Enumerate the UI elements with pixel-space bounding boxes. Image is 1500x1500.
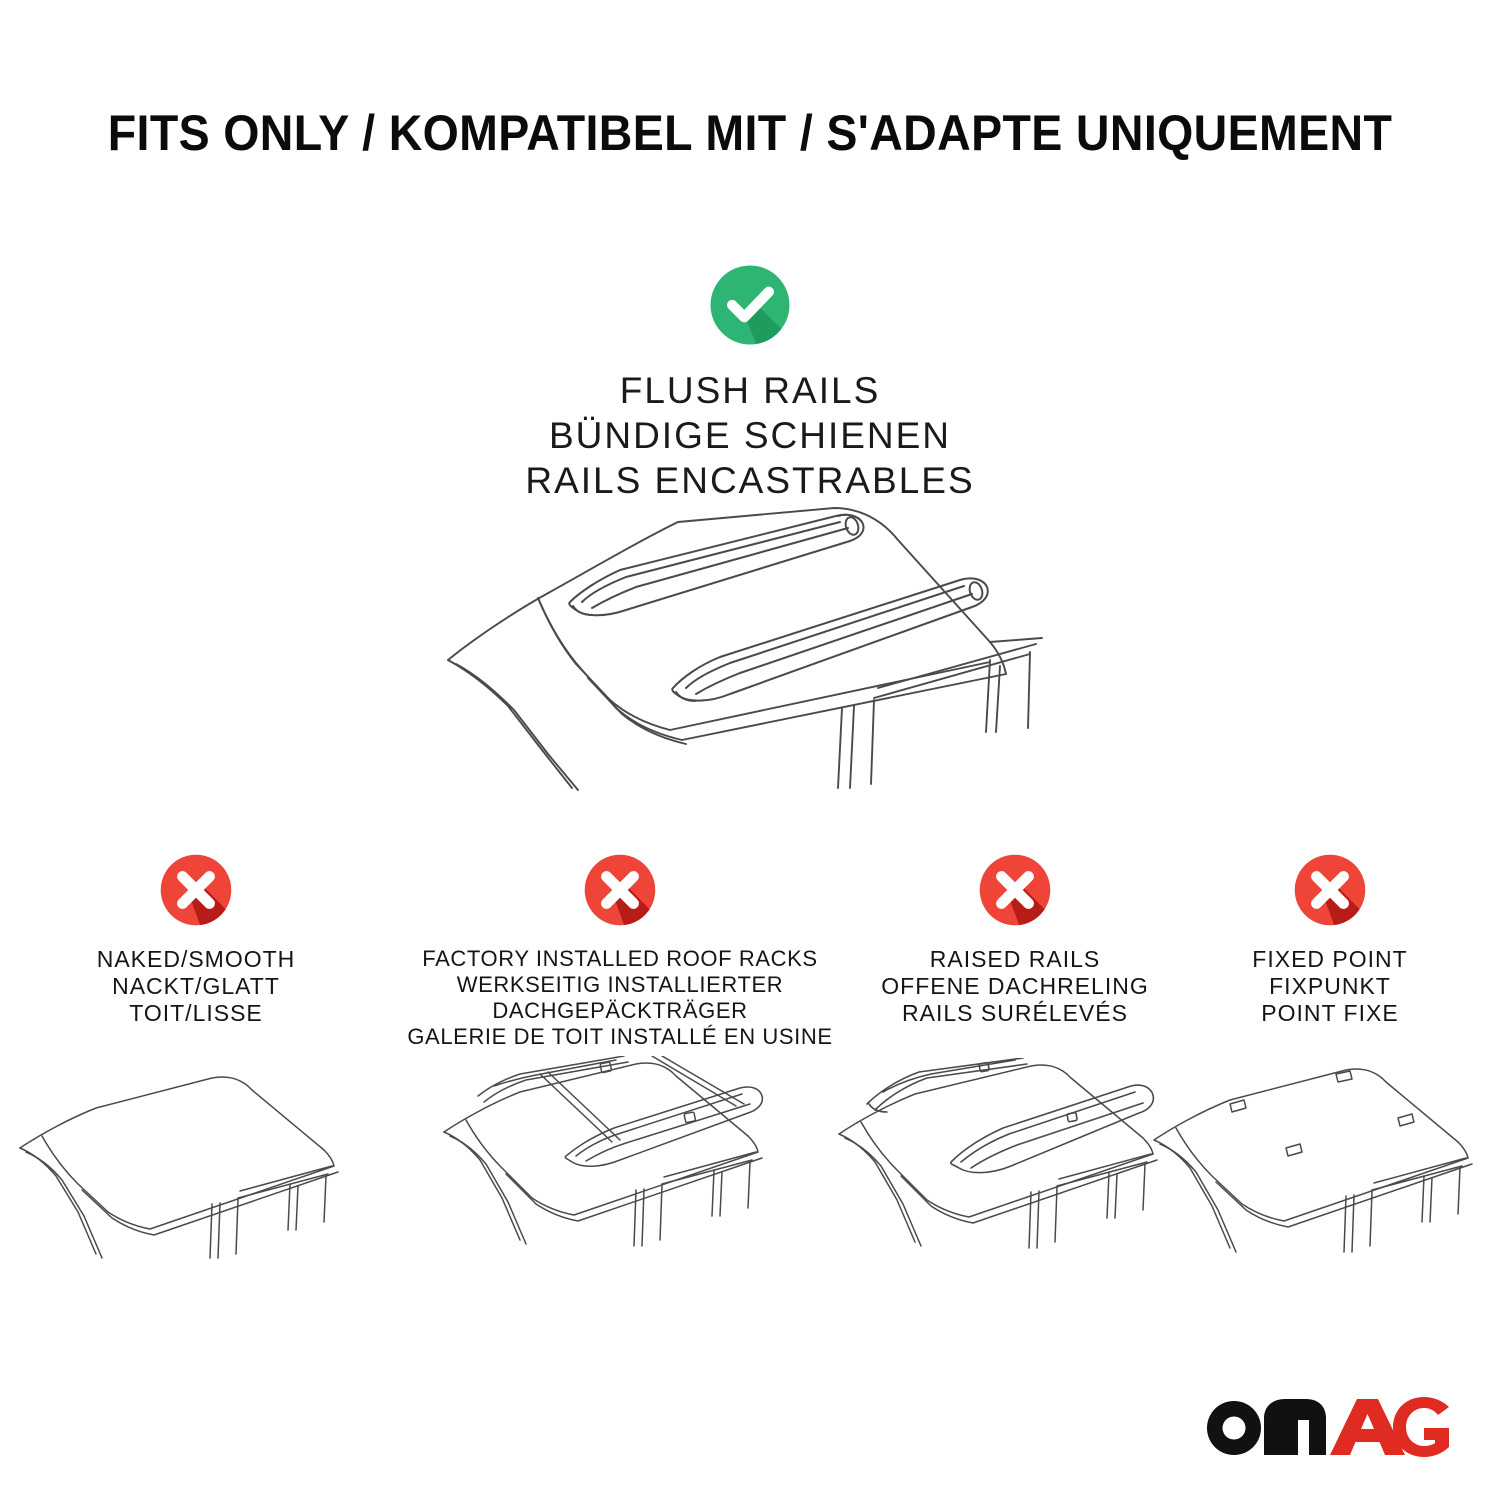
car-roof-naked-smooth-illustration [16,1058,376,1293]
label-group: RAISED RAILS OFFENE DACHRELING RAILS SUR… [845,946,1185,1027]
label-group: FACTORY INSTALLED ROOF RACKS WERKSEITIG … [390,946,850,1050]
label-de-2: DACHGEPÄCKTRÄGER [390,998,850,1024]
label-en: FIXED POINT [1165,946,1495,973]
incompatible-item-factory-roof-racks: FACTORY INSTALLED ROOF RACKS WERKSEITIG … [390,848,850,1050]
label-de-1: WERKSEITIG INSTALLIERTER [390,972,850,998]
compatible-labels: FLUSH RAILS BÜNDIGE SCHIENEN RAILS ENCAS… [0,368,1500,503]
cross-circle-icon [578,848,662,932]
compatible-section: FLUSH RAILS BÜNDIGE SCHIENEN RAILS ENCAS… [0,258,1500,503]
header-banner: FITS ONLY / KOMPATIBEL MIT / S'ADAPTE UN… [0,104,1500,162]
compatible-label-de: BÜNDIGE SCHIENEN [0,413,1500,458]
label-group: FIXED POINT FIXPUNKT POINT FIXE [1165,946,1495,1027]
logo-letter-m [1264,1399,1326,1455]
compatible-label-en: FLUSH RAILS [0,368,1500,413]
label-de: NACKT/GLATT [16,973,376,1000]
label-de: OFFENE DACHRELING [845,973,1185,1000]
cross-circle-icon [154,848,238,932]
label-de: FIXPUNKT [1165,973,1495,1000]
incompatible-item-raised-rails: RAISED RAILS OFFENE DACHRELING RAILS SUR… [845,848,1185,1027]
label-fr: RAILS SURÉLEVÉS [845,1000,1185,1027]
incompatible-item-naked-smooth: NAKED/SMOOTH NACKT/GLATT TOIT/LISSE [16,848,376,1027]
label-en: RAISED RAILS [845,946,1185,973]
incompatible-item-fixed-point: FIXED POINT FIXPUNKT POINT FIXE [1165,848,1495,1027]
logo-letter-c [1393,1397,1449,1457]
cross-circle-icon [973,848,1057,932]
page-title: FITS ONLY / KOMPATIBEL MIT / S'ADAPTE UN… [53,104,1448,162]
label-fr: TOIT/LISSE [16,1000,376,1027]
label-en: NAKED/SMOOTH [16,946,376,973]
label-fr: GALERIE DE TOIT INSTALLÉ EN USINE [390,1024,850,1050]
omac-logo [1202,1388,1452,1462]
car-roof-factory-roof-racks-illustration [440,1056,800,1291]
label-fr: POINT FIXE [1165,1000,1495,1027]
car-roof-fixed-point-illustration [1150,1058,1500,1293]
incompatible-section: NAKED/SMOOTH NACKT/GLATT TOIT/LISSE [0,848,1500,1308]
label-en: FACTORY INSTALLED ROOF RACKS [390,946,850,972]
check-circle-icon [703,258,797,352]
car-roof-raised-rails-illustration [835,1058,1195,1293]
label-group: NAKED/SMOOTH NACKT/GLATT TOIT/LISSE [16,946,376,1027]
car-roof-flush-rails-illustration [430,492,1090,792]
cross-circle-icon [1288,848,1372,932]
